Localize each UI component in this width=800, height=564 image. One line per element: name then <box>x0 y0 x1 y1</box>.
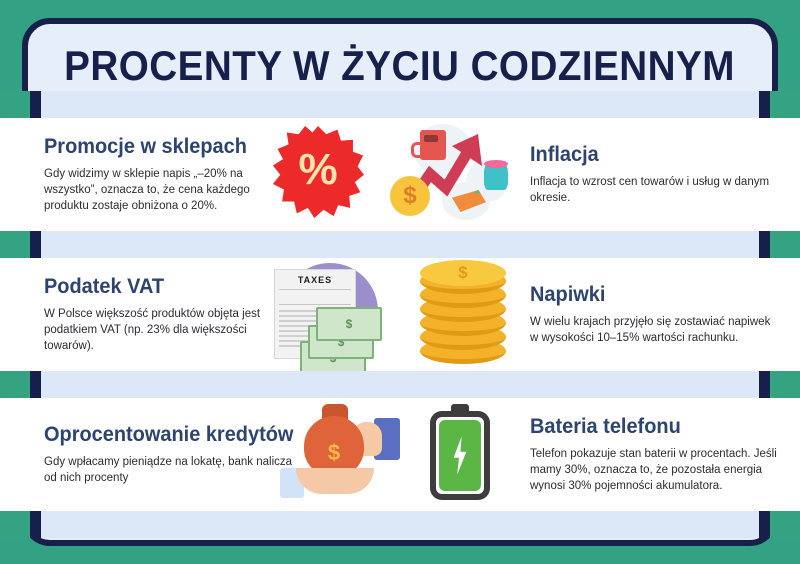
battery-fill <box>439 420 481 491</box>
infographic-poster: PROCENTY W ŻYCIU CODZIENNYM Promocje w s… <box>0 0 800 564</box>
row1-icons: % $ <box>250 118 550 231</box>
starburst-shape: % <box>272 126 364 218</box>
tab-navy-segment <box>30 511 41 538</box>
form-box-row <box>279 289 351 305</box>
section-text: Telefon pokazuje stan baterii w procenta… <box>530 446 780 494</box>
tab-teal-segment <box>770 91 800 118</box>
separator-band-0 <box>0 91 800 118</box>
lightning-bolt-icon <box>450 437 470 475</box>
page-title: PROCENTY W ŻYCIU CODZIENNYM <box>65 42 736 90</box>
percent-starburst-icon: % <box>272 126 364 218</box>
section-heading: Napiwki <box>530 283 605 307</box>
money-bag-hand-icon: $ <box>278 402 408 506</box>
tab-navy-segment <box>30 231 41 258</box>
section-heading: Promocje w sklepach <box>44 135 247 159</box>
band-tab-left <box>0 511 41 538</box>
row1-right-text: Inflacja Inflacja to wzrost cen towarów … <box>530 118 780 231</box>
band-tab-left <box>0 231 41 258</box>
inflation-arrow-icon: $ <box>390 124 510 220</box>
battery-shape <box>430 404 490 500</box>
tab-teal-segment <box>0 511 30 538</box>
tab-navy-segment <box>759 91 770 118</box>
tab-teal-segment <box>770 371 800 398</box>
tab-navy-segment <box>759 231 770 258</box>
tab-teal-segment <box>770 231 800 258</box>
band-tab-right <box>759 231 800 258</box>
separator-band-1 <box>0 231 800 258</box>
tab-teal-segment <box>0 371 30 398</box>
money-bag-shape: $ <box>304 416 364 476</box>
bag-dollar-symbol: $ <box>328 440 340 466</box>
band-tab-right <box>759 371 800 398</box>
tab-navy-segment <box>759 511 770 538</box>
section-heading: Inflacja <box>530 143 599 167</box>
section-heading: Podatek VAT <box>44 275 164 299</box>
section-heading: Bateria telefonu <box>530 415 681 439</box>
content-row: Oprocentowanie kredytów Gdy wpłacamy pie… <box>0 398 800 511</box>
tin-can-icon <box>484 164 508 190</box>
row3-right-text: Bateria telefonu Telefon pokazuje stan b… <box>530 398 780 511</box>
tab-teal-segment <box>0 91 30 118</box>
row2-icons: TAXES $ $ $ <box>250 258 550 371</box>
band-tab-left <box>0 371 41 398</box>
section-text: W wielu krajach przyjęło się zostawiać n… <box>530 314 780 346</box>
taxes-document-icon: TAXES $ $ $ <box>256 261 396 363</box>
section-text: Inflacja to wzrost cen towarów i usług w… <box>530 174 780 206</box>
coin-stack-icon: $ <box>420 260 506 364</box>
coin-top: $ <box>420 260 506 286</box>
taxes-cluster: TAXES $ $ $ <box>256 261 396 363</box>
tab-teal-segment <box>770 511 800 538</box>
percent-symbol: % <box>298 148 337 192</box>
banknote: $ <box>316 307 382 341</box>
dollar-coin-icon: $ <box>390 176 430 216</box>
row2-right-text: Napiwki W wielu krajach przyjęło się zos… <box>530 258 780 371</box>
taxes-label: TAXES <box>275 275 355 285</box>
coin-stack: $ <box>420 260 506 364</box>
band-tab-right <box>759 511 800 538</box>
tab-teal-segment <box>0 231 30 258</box>
content-row: Podatek VAT W Polsce większość produktów… <box>0 258 800 371</box>
separator-band-3 <box>0 511 800 538</box>
tab-navy-segment <box>30 371 41 398</box>
battery-body <box>430 411 490 500</box>
money-bag-cluster: $ <box>278 402 408 506</box>
inflation-cluster: $ <box>390 124 510 220</box>
separator-band-2 <box>0 371 800 398</box>
band-tab-right <box>759 91 800 118</box>
band-tab-left <box>0 91 41 118</box>
gas-pump-icon <box>420 130 446 160</box>
row3-icons: $ <box>250 398 550 511</box>
tab-navy-segment <box>30 91 41 118</box>
phone-battery-icon <box>430 404 490 500</box>
tab-navy-segment <box>759 371 770 398</box>
content-row: Promocje w sklepach Gdy widzimy w sklepi… <box>0 118 800 231</box>
hand-shape <box>296 468 374 494</box>
